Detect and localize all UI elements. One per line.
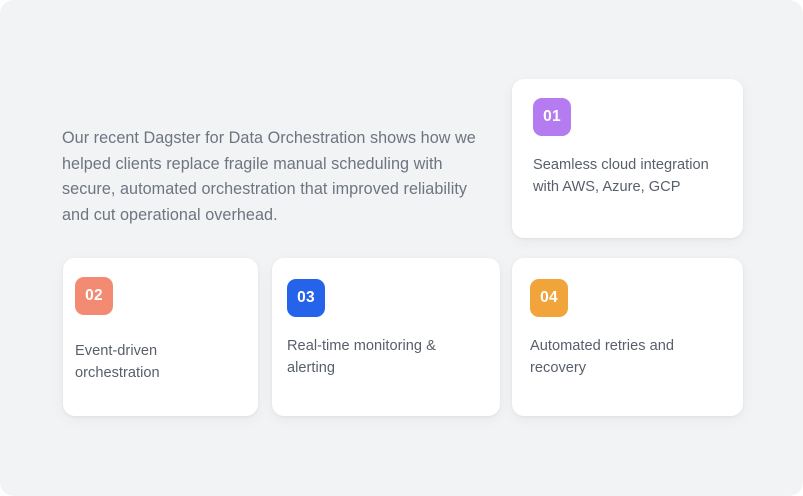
card-number-badge-04: 04 — [530, 279, 568, 317]
feature-card-01[interactable]: 01 Seamless cloud integration with AWS, … — [512, 79, 743, 238]
intro-paragraph: Our recent Dagster for Data Orchestratio… — [62, 126, 487, 228]
content-panel: Our recent Dagster for Data Orchestratio… — [0, 0, 803, 496]
card-description-02: Event-driven orchestration — [75, 341, 245, 384]
card-description-03: Real-time monitoring & alerting — [287, 336, 487, 379]
card-number-badge-01: 01 — [533, 98, 571, 136]
card-number-badge-03: 03 — [287, 279, 325, 317]
feature-card-03[interactable]: 03 Real-time monitoring & alerting — [272, 258, 500, 416]
card-description-04: Automated retries and recovery — [530, 336, 730, 379]
feature-card-02[interactable]: 02 Event-driven orchestration — [63, 258, 258, 416]
card-number-badge-02: 02 — [75, 277, 113, 315]
card-description-01: Seamless cloud integration with AWS, Azu… — [533, 155, 723, 198]
feature-card-04[interactable]: 04 Automated retries and recovery — [512, 258, 743, 416]
